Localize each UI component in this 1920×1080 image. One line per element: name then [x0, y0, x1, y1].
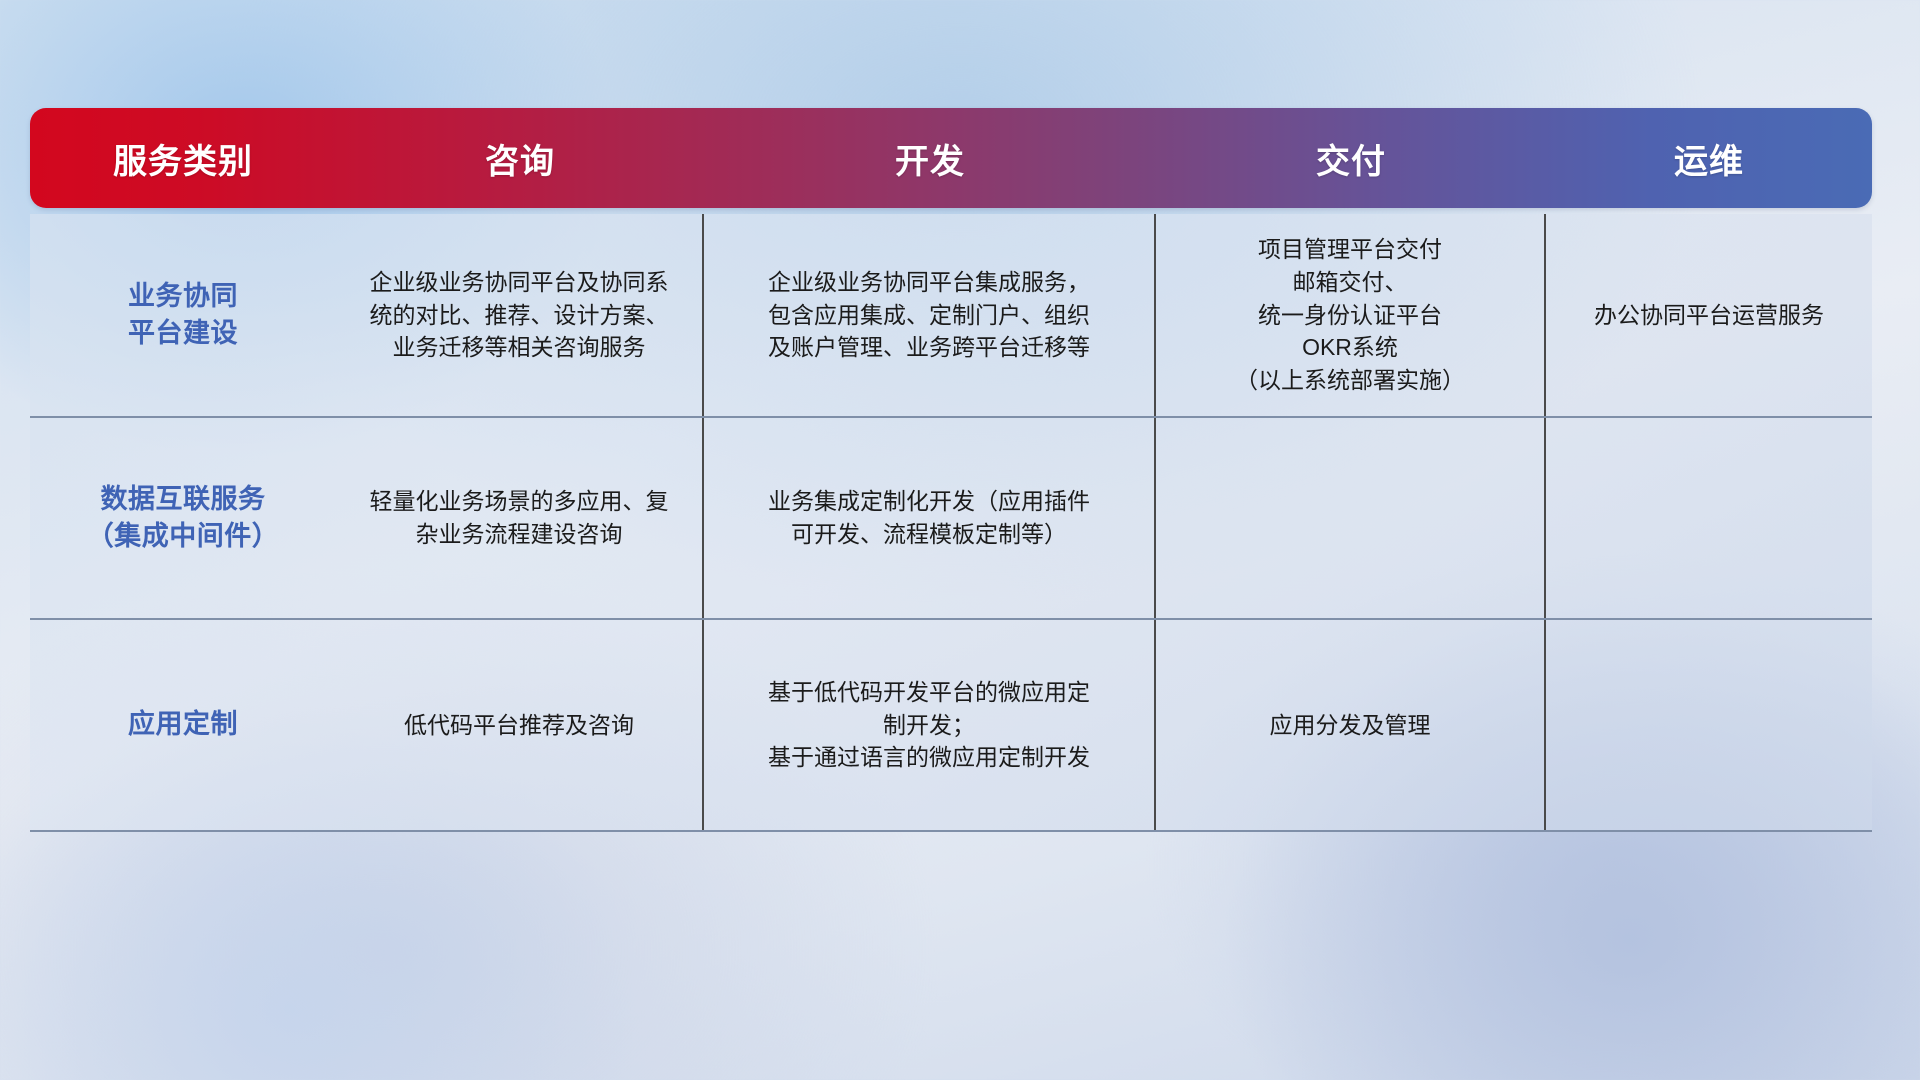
row-category-label: 业务协同 平台建设 — [30, 214, 336, 416]
cell-development: 业务集成定制化开发（应用插件 可开发、流程模板定制等） — [704, 418, 1156, 618]
table-header-consulting: 咨询 — [336, 108, 704, 208]
table-body: 业务协同 平台建设 企业级业务协同平台及协同系 统的对比、推荐、设计方案、 业务… — [30, 214, 1872, 832]
row-category-label: 应用定制 — [30, 620, 336, 830]
table-row: 业务协同 平台建设 企业级业务协同平台及协同系 统的对比、推荐、设计方案、 业务… — [30, 214, 1872, 416]
table-row: 应用定制 低代码平台推荐及咨询 基于低代码开发平台的微应用定 制开发； 基于通过… — [30, 618, 1872, 830]
table-header-development: 开发 — [704, 108, 1156, 208]
cell-development: 企业级业务协同平台集成服务， 包含应用集成、定制门户、组织 及账户管理、业务跨平… — [704, 214, 1156, 416]
service-matrix-table: 服务类别 咨询 开发 交付 运维 业务协同 平台建设 企业级业务协同平台及协同系… — [30, 108, 1872, 832]
row-category-label: 数据互联服务 （集成中间件） — [30, 418, 336, 618]
cell-delivery — [1156, 418, 1546, 618]
cell-operations — [1546, 620, 1872, 830]
cell-delivery: 应用分发及管理 — [1156, 620, 1546, 830]
cell-consulting: 低代码平台推荐及咨询 — [336, 620, 704, 830]
table-header-operations: 运维 — [1546, 108, 1872, 208]
cell-operations — [1546, 418, 1872, 618]
cell-development: 基于低代码开发平台的微应用定 制开发； 基于通过语言的微应用定制开发 — [704, 620, 1156, 830]
cell-operations: 办公协同平台运营服务 — [1546, 214, 1872, 416]
cell-consulting: 企业级业务协同平台及协同系 统的对比、推荐、设计方案、 业务迁移等相关咨询服务 — [336, 214, 704, 416]
table-header-row: 服务类别 咨询 开发 交付 运维 — [30, 108, 1872, 208]
table-header-delivery: 交付 — [1156, 108, 1546, 208]
cell-delivery: 项目管理平台交付 邮箱交付、 统一身份认证平台 OKR系统 （以上系统部署实施） — [1156, 214, 1546, 416]
cell-consulting: 轻量化业务场景的多应用、复 杂业务流程建设咨询 — [336, 418, 704, 618]
table-row: 数据互联服务 （集成中间件） 轻量化业务场景的多应用、复 杂业务流程建设咨询 业… — [30, 416, 1872, 618]
table-header-service-category: 服务类别 — [30, 108, 336, 208]
